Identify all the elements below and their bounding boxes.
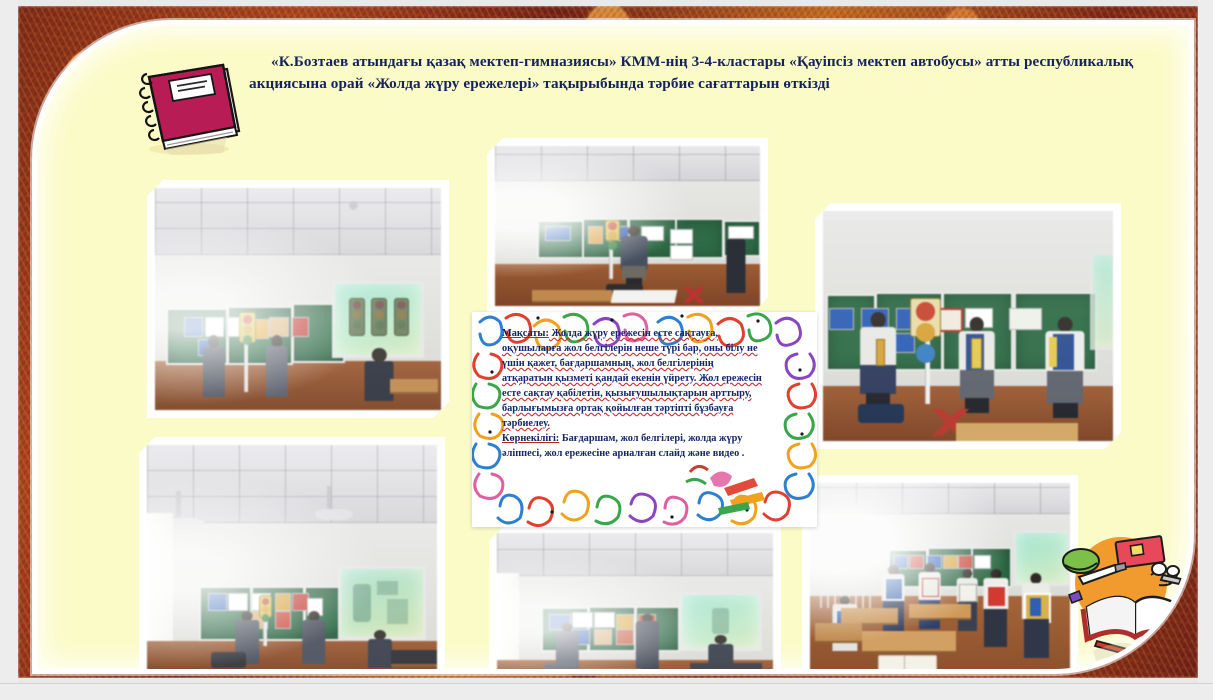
photo-image	[497, 533, 773, 674]
aims-text-content: Мақсаты: Жолда жүру ережесін есте сақтау…	[502, 326, 764, 461]
aims-goal-paragraph: Мақсаты: Жолда жүру ережесін есте сақтау…	[502, 326, 764, 431]
title-line-1: «К.Бозтаев атындағы қазақ мектеп-гимнази…	[271, 53, 906, 70]
photo-classroom-signs-left[interactable]	[147, 180, 449, 418]
photo-image	[495, 146, 760, 306]
photo-three-students-signs[interactable]	[815, 203, 1121, 449]
slide-title: «К.Бозтаев атындағы қазақ мектеп-гимнази…	[249, 51, 1159, 95]
aims-text-panel: Мақсаты: Жолда жүру ережесін есте сақтау…	[472, 312, 817, 527]
photo-image	[823, 211, 1113, 441]
aims-visual-paragraph: Көрнекілігі: Бағдаршам, жол белгілері, ж…	[502, 431, 764, 461]
photo-student-traffic-light[interactable]	[487, 138, 768, 314]
aims-goal-text: Жолда жүру ережесін есте сақтауға, оқушы…	[502, 328, 762, 429]
aims-visual-label: Көрнекілігі:	[502, 433, 559, 444]
viewer-right-margin	[1198, 0, 1213, 700]
slide-viewer: «К.Бозтаев атындағы қазақ мектеп-гимнази…	[0, 0, 1213, 700]
photo-classroom-wide-left[interactable]	[139, 437, 445, 674]
viewer-left-margin	[0, 0, 18, 700]
red-spiral-notebook-icon	[123, 61, 249, 157]
photo-image	[155, 188, 441, 410]
photo-students-holding-signs[interactable]	[802, 475, 1078, 674]
photo-image	[810, 483, 1070, 674]
viewer-bottom-bar	[0, 683, 1213, 700]
school-supplies-circle-icon	[1059, 531, 1194, 661]
slide-content-page: «К.Бозтаев атындағы қазақ мектеп-гимнази…	[32, 20, 1194, 674]
title-line-3: сағаттарын өткізді	[698, 75, 830, 92]
aims-goal-label: Мақсаты:	[502, 328, 549, 339]
photo-image	[147, 445, 437, 673]
presentation-slide: «К.Бозтаев атындағы қазақ мектеп-гимнази…	[18, 6, 1198, 678]
photo-board-presentation[interactable]	[489, 525, 781, 674]
